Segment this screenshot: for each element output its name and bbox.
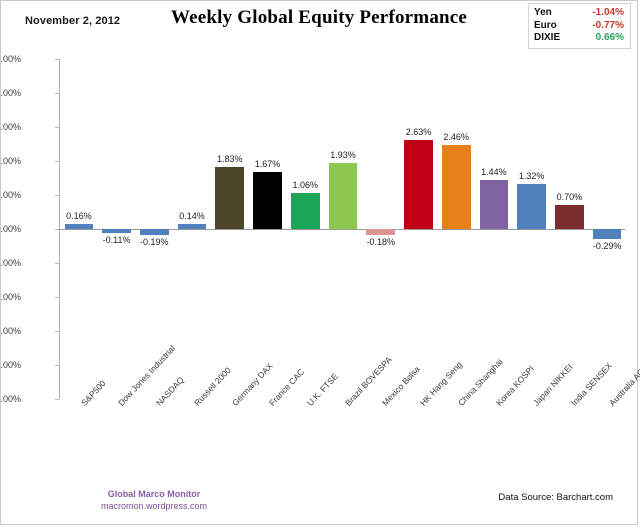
bar[interactable] [404, 140, 433, 229]
bar-value-label: -0.19% [130, 237, 178, 247]
bar-slot: 0.14% [173, 59, 211, 399]
bar-slot: 0.16% [60, 59, 98, 399]
bar-series: 0.16%-0.11%-0.19%0.14%1.83%1.67%1.06%1.9… [60, 59, 625, 399]
y-axis-tick [55, 297, 59, 298]
x-axis-labels: S&P500Dow Jones IndustrialNASDAQRussell … [59, 401, 625, 481]
y-axis-tick [55, 331, 59, 332]
fx-row: DIXIE0.66% [534, 32, 624, 45]
brand-name: Global Marco Monitor [101, 488, 207, 500]
bar-value-label: 1.32% [508, 171, 556, 181]
bar[interactable] [65, 224, 94, 229]
y-axis-tick-label: 0.00% [0, 224, 21, 234]
bar[interactable] [291, 193, 320, 229]
chart-frame: November 2, 2012 Weekly Global Equity Pe… [0, 0, 638, 525]
bar[interactable] [329, 163, 358, 229]
plot-area: 0.16%-0.11%-0.19%0.14%1.83%1.67%1.06%1.9… [59, 59, 625, 399]
y-axis-tick-label: 2.00% [0, 156, 21, 166]
y-axis-tick-label: -4.00% [0, 360, 21, 370]
fx-name: Euro [534, 20, 572, 33]
fx-value: -0.77% [572, 20, 624, 33]
y-axis-tick-label: 1.00% [0, 190, 21, 200]
bar-slot: 2.46% [437, 59, 475, 399]
bar-slot: -0.29% [588, 59, 626, 399]
bar[interactable] [517, 184, 546, 229]
data-source-note: Data Source: Barchart.com [498, 492, 613, 503]
bar-value-label: 1.67% [243, 159, 291, 169]
bar-slot: 1.32% [513, 59, 551, 399]
currency-summary-table: Yen-1.04%Euro-0.77%DIXIE0.66% [528, 3, 631, 49]
bar[interactable] [140, 229, 169, 235]
bar-slot: 1.83% [211, 59, 249, 399]
y-axis-tick-label: -3.00% [0, 326, 21, 336]
bar-slot: 1.93% [324, 59, 362, 399]
fx-value: -1.04% [572, 7, 624, 20]
bar-value-label: 1.93% [319, 150, 367, 160]
bar-value-label: 0.70% [545, 192, 593, 202]
bar-value-label: -0.18% [357, 237, 405, 247]
y-axis-tick-label: -1.00% [0, 258, 21, 268]
bar[interactable] [253, 172, 282, 229]
bar[interactable] [215, 167, 244, 229]
bar[interactable] [442, 145, 471, 229]
bar-slot: -0.11% [98, 59, 136, 399]
fx-value: 0.66% [572, 32, 624, 45]
y-axis-tick-label: 5.00% [0, 54, 21, 64]
bar[interactable] [593, 229, 622, 239]
bar[interactable] [555, 205, 584, 229]
bar[interactable] [178, 224, 207, 229]
y-axis-tick-label: -2.00% [0, 292, 21, 302]
bar-slot: 0.70% [551, 59, 589, 399]
bar-value-label: 1.06% [281, 180, 329, 190]
bar[interactable] [480, 180, 509, 229]
bar[interactable] [102, 229, 131, 233]
y-axis-tick-label: -5.00% [0, 394, 21, 404]
bar-slot: -0.18% [362, 59, 400, 399]
brand-credit: Global Marco Monitor macromon.wordpress.… [101, 488, 207, 512]
y-axis-tick-label: 3.00% [0, 122, 21, 132]
bar-value-label: -0.29% [583, 241, 631, 251]
y-axis-tick-label: 4.00% [0, 88, 21, 98]
bar-slot: 2.63% [400, 59, 438, 399]
bar-slot: 1.67% [249, 59, 287, 399]
fx-row: Euro-0.77% [534, 20, 624, 33]
y-axis-tick [55, 195, 59, 196]
fx-name: DIXIE [534, 32, 572, 45]
fx-row: Yen-1.04% [534, 7, 624, 20]
y-axis-tick [55, 365, 59, 366]
y-axis-tick [55, 93, 59, 94]
y-axis-tick [55, 161, 59, 162]
y-axis-tick [55, 263, 59, 264]
bar-value-label: 2.46% [432, 132, 480, 142]
y-axis-tick [55, 127, 59, 128]
bar-value-label: 0.14% [168, 211, 216, 221]
bar-slot: 1.06% [286, 59, 324, 399]
bar-slot: 1.44% [475, 59, 513, 399]
fx-name: Yen [534, 7, 572, 20]
brand-url: macromon.wordpress.com [101, 500, 207, 512]
bar-value-label: 0.16% [55, 211, 103, 221]
y-axis-tick [55, 399, 59, 400]
bar[interactable] [366, 229, 395, 235]
y-axis-tick [55, 59, 59, 60]
y-axis-tick [55, 229, 59, 230]
